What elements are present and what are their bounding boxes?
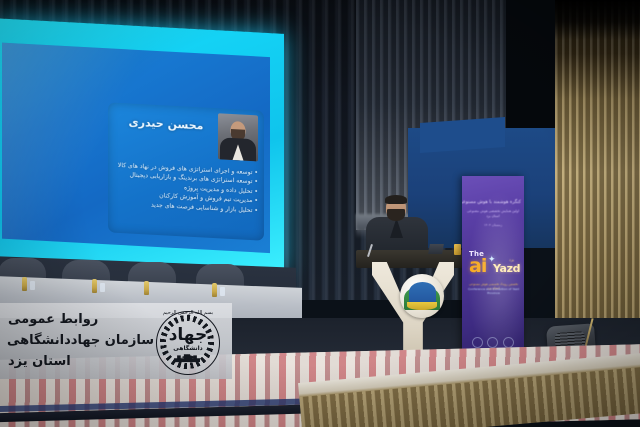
presenter-beard bbox=[387, 209, 405, 221]
lightbulb-icon bbox=[503, 337, 514, 348]
institution-crest bbox=[400, 274, 444, 318]
crest-arc-blue bbox=[409, 282, 436, 302]
banner-subline: اولین همایش تخصصی هوش مصنوعی استان یزد bbox=[465, 209, 521, 218]
slide-bullet: توسعه استراتژی های برندینگ و بازاریابی د… bbox=[112, 170, 258, 187]
crest-arc-yellow bbox=[407, 302, 437, 310]
banner-date: زمستان ۱۴۰۳ bbox=[465, 223, 521, 227]
mug-icon bbox=[454, 244, 461, 255]
banner-logo-ai: ai bbox=[469, 257, 486, 276]
slide-speaker-portrait bbox=[218, 113, 258, 161]
watermark-band: روابط عمومی سازمان جهاددانشگاهی استان یز… bbox=[0, 303, 232, 379]
globe-icon bbox=[472, 337, 483, 348]
emblem-main-word: جهاد bbox=[152, 327, 224, 344]
water-bottle bbox=[22, 277, 27, 291]
jahad-daneshgahi-emblem: بسم الله الرحمن الرحیم جهاد دانشگاهی ◄► bbox=[152, 305, 224, 377]
emblem-top-script: بسم الله الرحمن الرحیم bbox=[152, 310, 224, 316]
gear-icon bbox=[487, 337, 498, 348]
slide-bullet: مدیریت تیم فروش و آموزش کارکنان bbox=[112, 189, 258, 206]
watermark-line-1: روابط عمومی bbox=[8, 309, 154, 330]
watermark-text: روابط عمومی سازمان جهاددانشگاهی استان یز… bbox=[8, 309, 154, 372]
portrait-shirt bbox=[233, 144, 244, 161]
screen-border: محسن حیدری توسعه و اجرای استراتژی های فر… bbox=[0, 18, 284, 274]
watermark-line-2: سازمان جهاددانشگاهی bbox=[8, 330, 154, 351]
presenter-hair bbox=[385, 195, 407, 204]
banner-logo-yazd: Yazd bbox=[493, 263, 520, 274]
back-wall-blue-panel-upper bbox=[420, 117, 505, 153]
slide-bullet: تحلیل بازار و شناسایی فرصت های جدید bbox=[112, 198, 258, 215]
screen-surface: محسن حیدری توسعه و اجرای استراتژی های فر… bbox=[2, 43, 270, 254]
drinking-glass bbox=[220, 287, 225, 296]
slide-bullet-list: توسعه و اجرای استراتژی های فروش در نهاد … bbox=[112, 161, 258, 216]
drinking-glass bbox=[100, 283, 105, 292]
banner-tagline-fa: نخستین رویداد تخصصی هوش مصنوعی استان یزد bbox=[466, 282, 521, 290]
emblem-arrows-glyph: ◄► bbox=[172, 351, 203, 362]
portrait-body bbox=[220, 137, 256, 161]
portrait-beard bbox=[231, 129, 245, 141]
presenter-person bbox=[366, 196, 428, 258]
projection-screen: محسن حیدری توسعه و اجرای استراتژی های فر… bbox=[0, 18, 284, 274]
presentation-slide: محسن حیدری توسعه و اجرای استراتژی های فر… bbox=[108, 102, 264, 240]
rollup-banner: کنگره هوشمند با هوش مصنوعی اولین همایش ت… bbox=[462, 176, 524, 362]
laptop-icon bbox=[428, 244, 444, 254]
slide-speaker-name: محسن حیدری bbox=[118, 115, 214, 133]
portrait-head bbox=[231, 121, 246, 140]
conference-stage-photo: محسن حیدری توسعه و اجرای استراتژی های فر… bbox=[0, 0, 640, 427]
water-bottle bbox=[212, 283, 217, 297]
sparkle-icon: ✦ bbox=[488, 255, 496, 265]
curtain-top-shadow bbox=[555, 0, 640, 40]
slide-bullet: تحلیل داده و مدیریت پروژه bbox=[112, 179, 258, 196]
banner-logo-the: The bbox=[469, 250, 484, 258]
banner-sponsor-icons bbox=[470, 337, 516, 348]
drinking-glass bbox=[30, 281, 35, 290]
water-bottle bbox=[92, 279, 97, 293]
banner-headline: کنگره هوشمند با هوش مصنوعی bbox=[465, 200, 521, 206]
banner-badge: یزد bbox=[505, 253, 518, 266]
banner-tagline-en: Conference and Exhibition of Yazd Provin… bbox=[466, 287, 521, 295]
banner-logo: The ✦ ai Yazd یزد bbox=[466, 250, 522, 280]
watermark-line-3: استان یزد bbox=[8, 351, 154, 372]
slide-bullet: توسعه و اجرای استراتژی های فروش در نهاد … bbox=[112, 161, 258, 178]
water-bottle bbox=[144, 281, 149, 295]
